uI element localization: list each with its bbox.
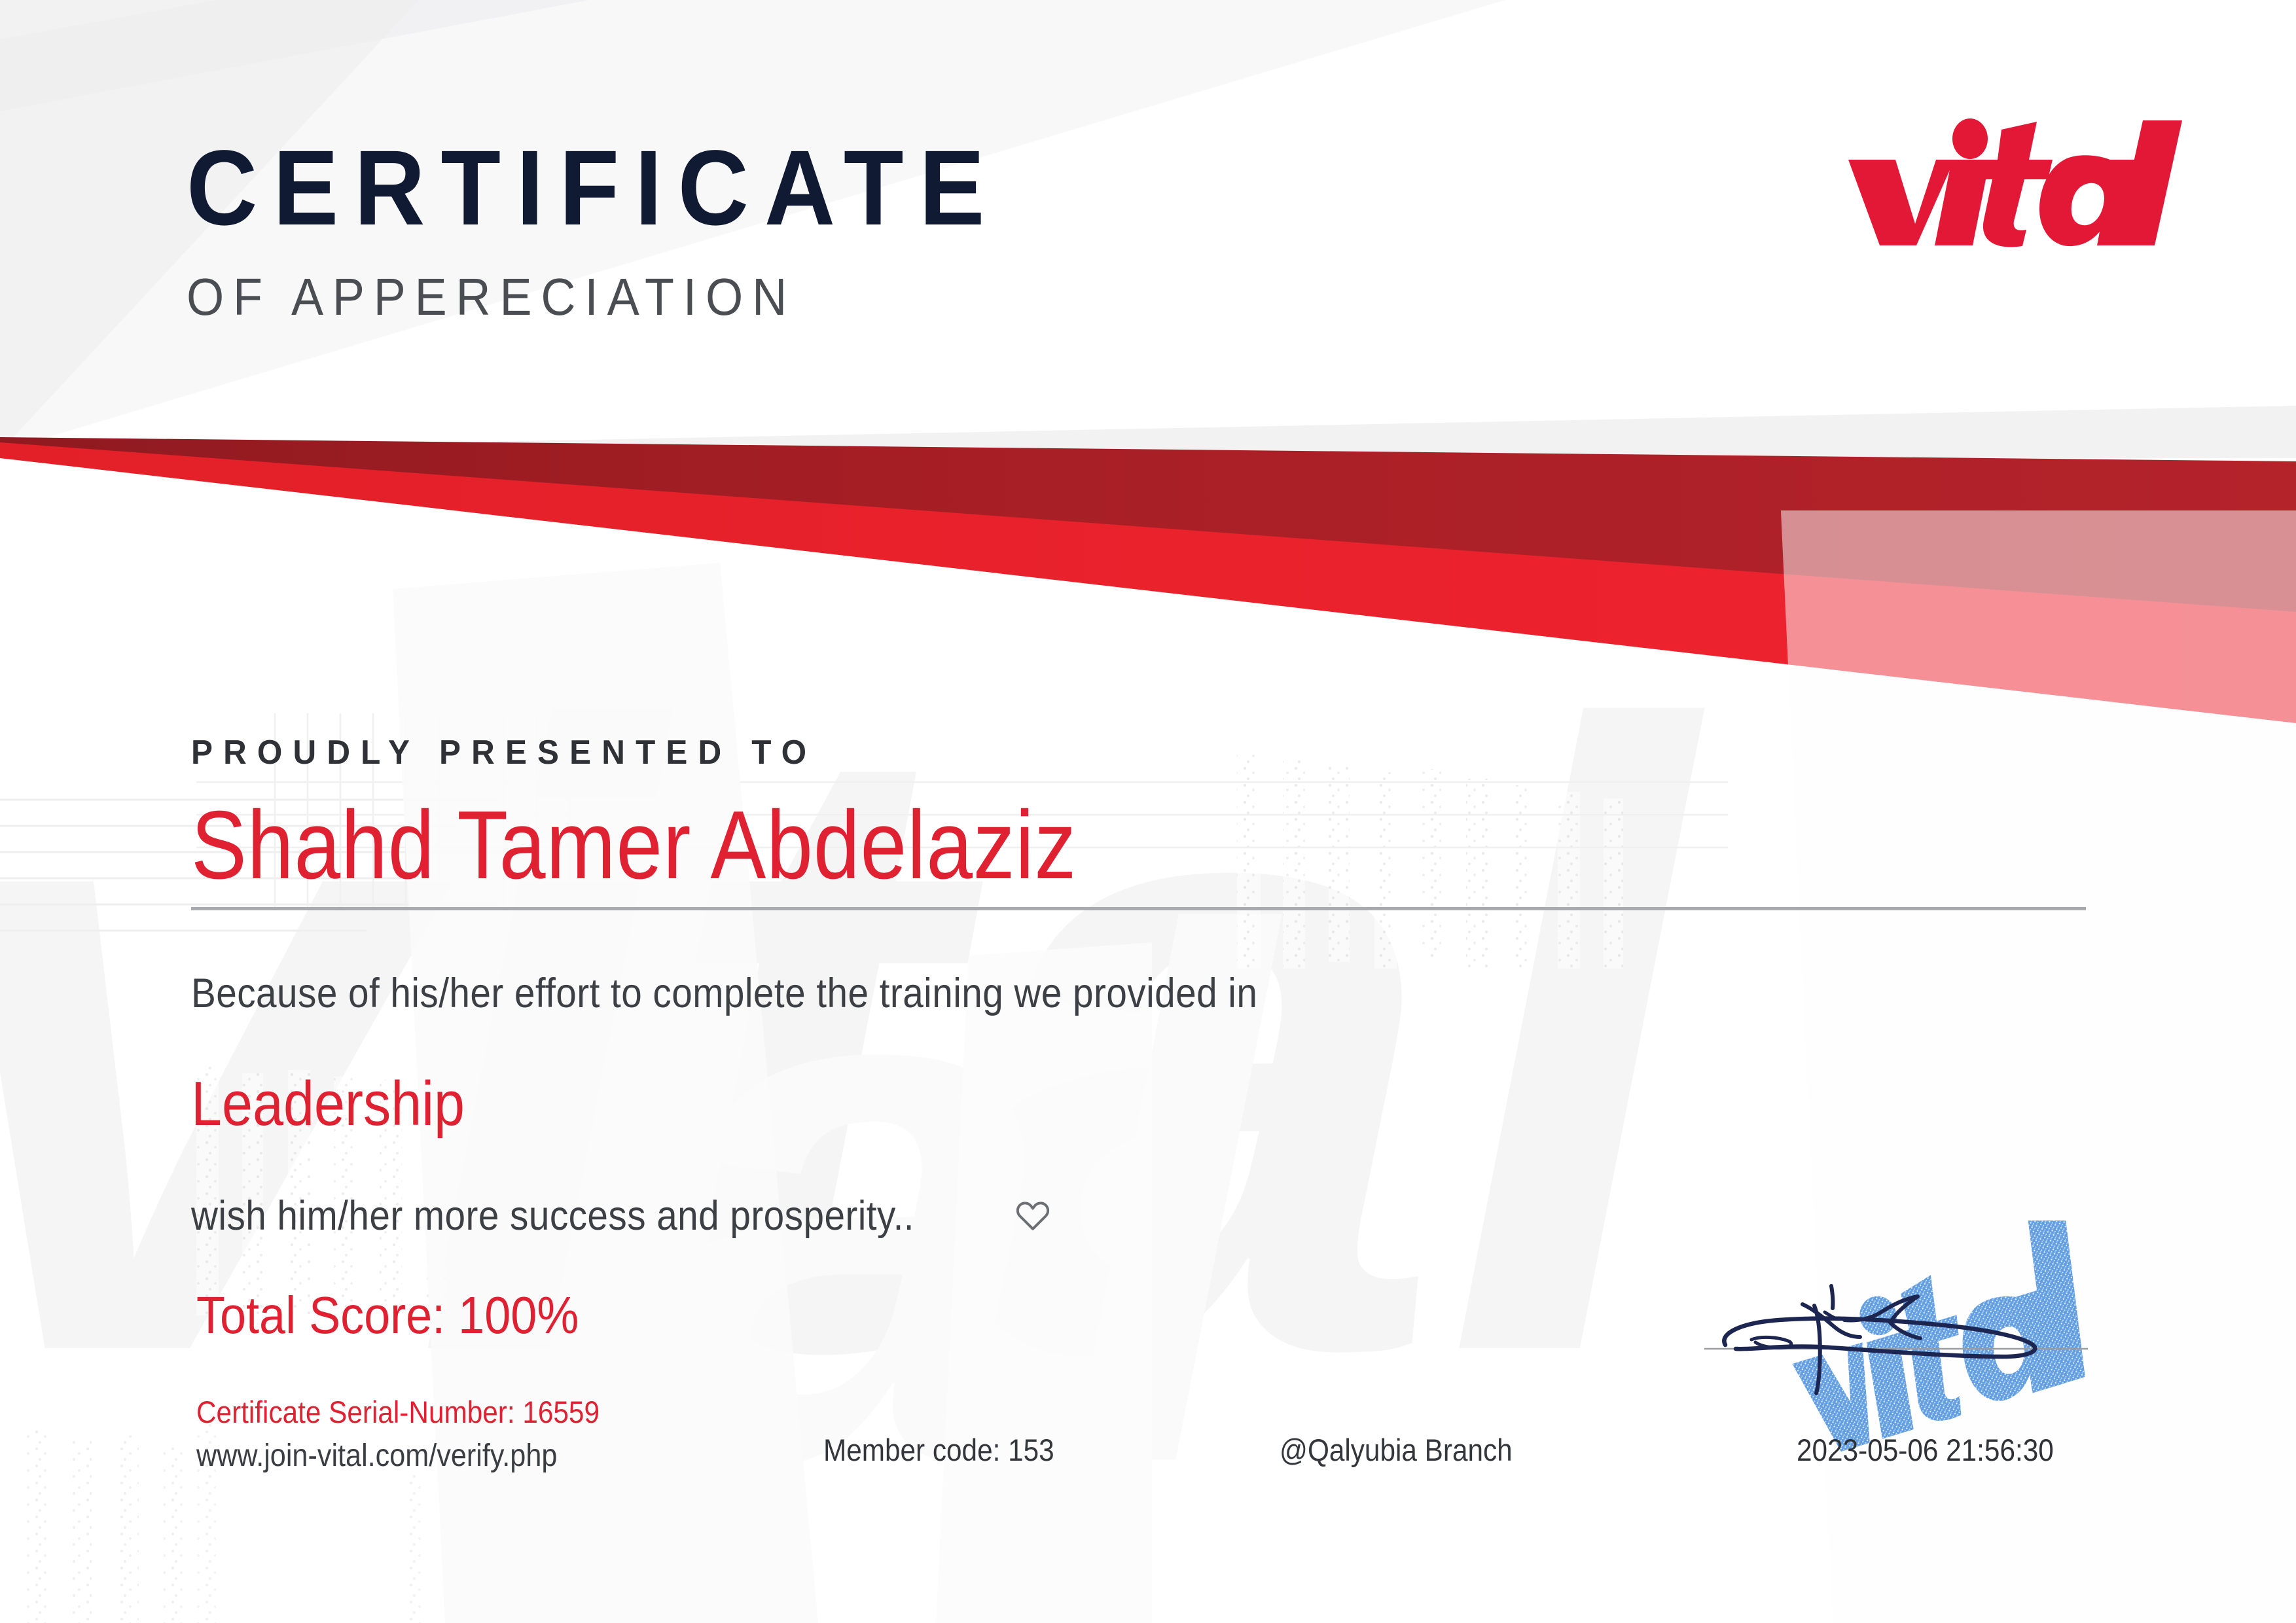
total-score: Total Score: 100% <box>196 1285 1929 1346</box>
reason-text: Because of his/her effort to complete th… <box>191 970 1929 1017</box>
branch-name: @Qalyubia Branch <box>1280 1432 1513 1468</box>
course-name: Leadership <box>191 1068 1890 1140</box>
certificate-serial-number: Certificate Serial-Number: 16559 <box>196 1394 726 1430</box>
name-underline-rule <box>191 907 2086 910</box>
member-code: Member code: 153 <box>823 1432 1054 1468</box>
recipient-name: Shahd Tamer Abdelaziz <box>191 785 1077 906</box>
recipient-row: Shahd Tamer Abdelaziz <box>191 785 2122 910</box>
vital-logo-icon <box>1833 111 2199 252</box>
presented-to-label: PROUDLY PRESENTED TO <box>191 733 2026 772</box>
page-title: CERTIFICATE <box>187 134 1000 241</box>
serial-block: Certificate Serial-Number: 16559 www.joi… <box>196 1394 785 1474</box>
certificate-body: PROUDLY PRESENTED TO Shahd Tamer Abdelaz… <box>191 733 2122 1346</box>
certificate-heading: CERTIFICATE OF APPERECIATION <box>187 134 1071 323</box>
vital-logo <box>1833 111 2199 252</box>
wish-row: wish him/her more success and prosperity… <box>191 1192 2122 1240</box>
certificate-footer: Certificate Serial-Number: 16559 www.joi… <box>0 1414 2296 1505</box>
certificate-page: vital al <box>0 0 2296 1623</box>
issue-date: 2023-05-06 21:56:30 <box>1797 1432 2054 1468</box>
page-subtitle: OF APPERECIATION <box>187 271 1000 323</box>
verify-url[interactable]: www.join-vital.com/verify.php <box>196 1438 726 1474</box>
wish-text: wish him/her more success and prosperity… <box>191 1192 914 1240</box>
heart-outline-icon <box>1014 1198 1051 1234</box>
